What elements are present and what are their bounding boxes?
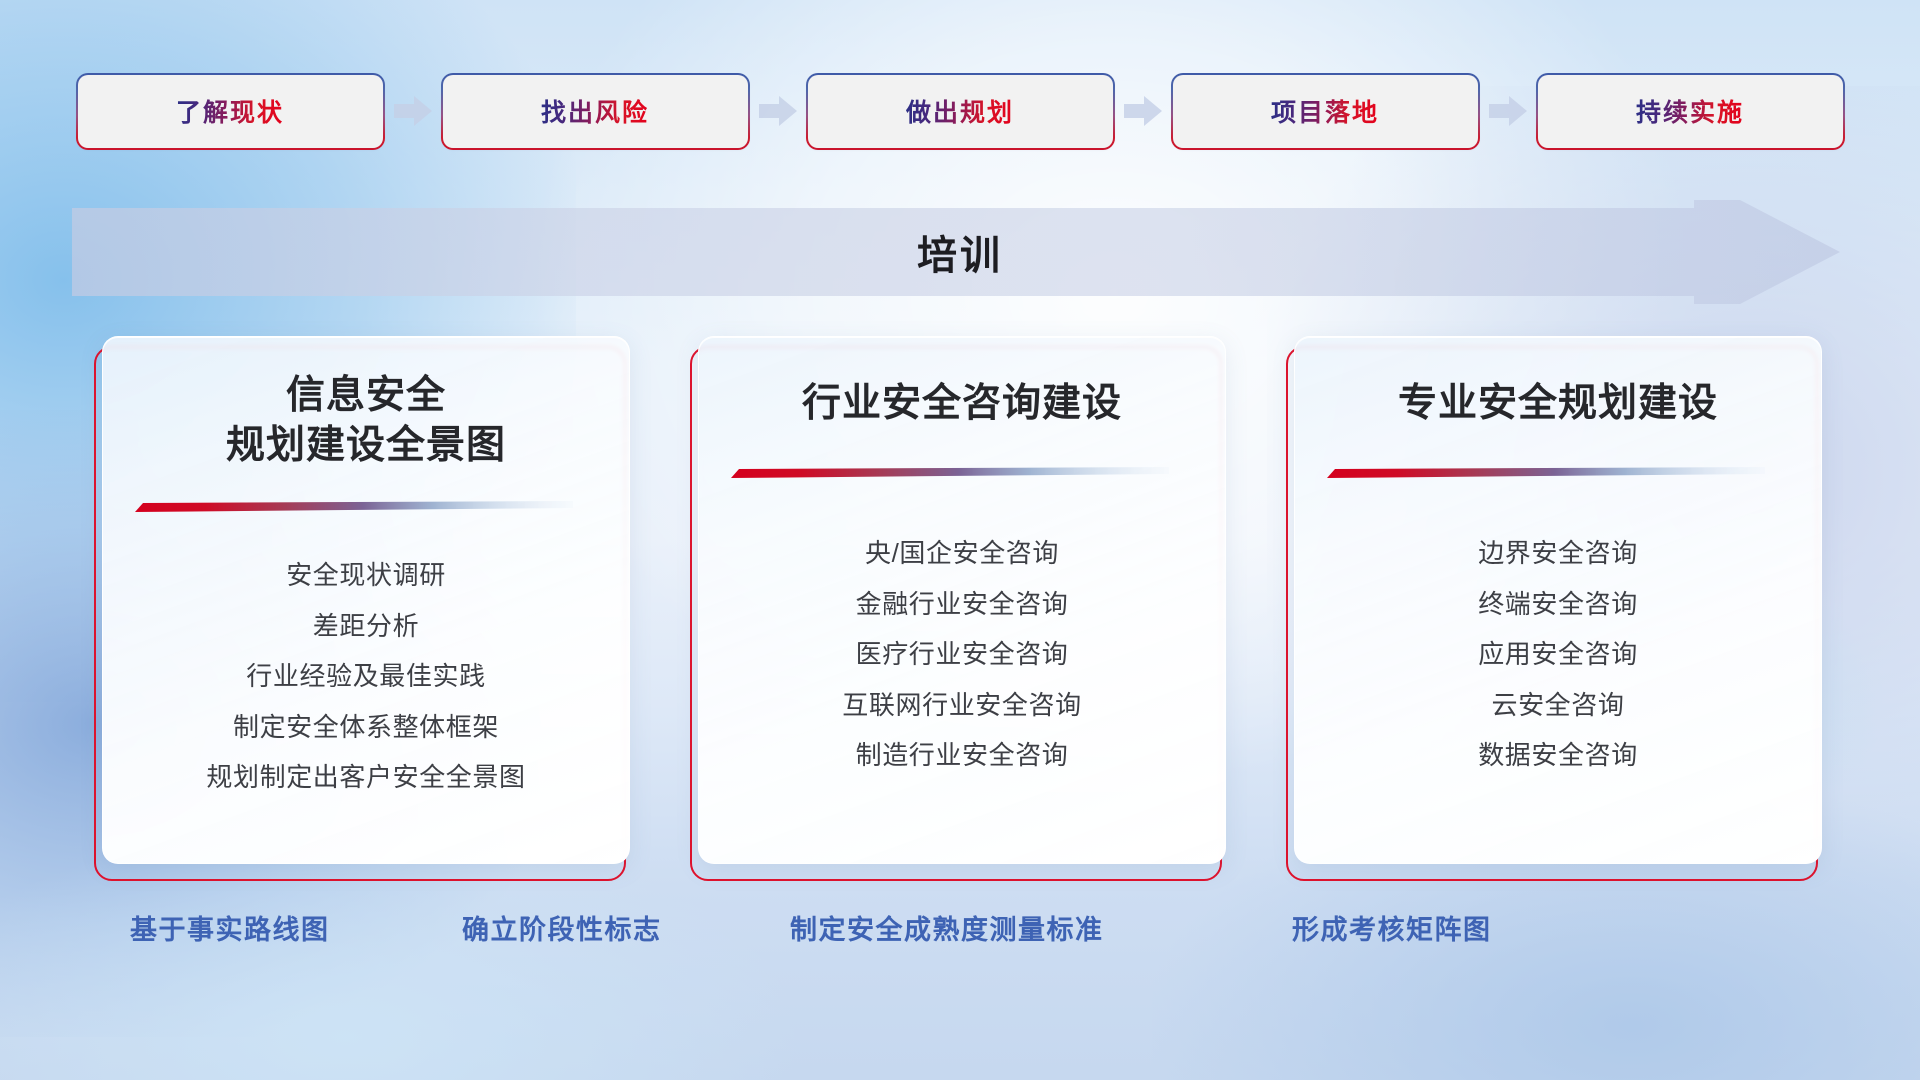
step-separator-2-right-arrow-icon — [748, 75, 808, 148]
step-box-3[interactable]: 做出规划 — [808, 75, 1113, 148]
card-3[interactable]: 专业安全规划建设边界安全咨询终端安全咨询应用安全咨询云安全咨询数据安全咨询 — [1290, 336, 1822, 871]
step-box-5[interactable]: 持续实施 — [1538, 75, 1843, 148]
card-1[interactable]: 信息安全 规划建设全景图安全现状调研差距分析行业经验及最佳实践制定安全体系整体框… — [98, 336, 630, 871]
banner-title: 培训 — [0, 200, 1920, 304]
list-item[interactable]: 制定安全体系整体框架 — [233, 707, 499, 749]
list-item[interactable]: 安全现状调研 — [286, 555, 446, 597]
card-title-1: 信息安全 规划建设全景图 — [226, 371, 506, 471]
step-separator-3-right-arrow-icon — [1113, 75, 1173, 148]
step-label-1: 了解现状 — [176, 93, 284, 129]
step-box-2[interactable]: 找出风险 — [443, 75, 748, 148]
list-item[interactable]: 差距分析 — [313, 606, 419, 648]
footer-label-1: 基于事实路线图 — [130, 908, 330, 947]
step-label-5: 持续实施 — [1636, 93, 1744, 129]
step-label-3: 做出规划 — [906, 93, 1014, 129]
card-row: 信息安全 规划建设全景图安全现状调研差距分析行业经验及最佳实践制定安全体系整体框… — [0, 336, 1920, 876]
list-item[interactable]: 云安全咨询 — [1491, 685, 1624, 727]
footer-label-3: 制定安全成熟度测量标准 — [790, 908, 1104, 947]
list-item[interactable]: 规划制定出客户安全全景图 — [206, 757, 525, 799]
card-title-2: 行业安全咨询建设 — [802, 379, 1122, 429]
footer-label-2: 确立阶段性标志 — [462, 908, 662, 947]
step-box-1[interactable]: 了解现状 — [78, 75, 383, 148]
card-body-2: 行业安全咨询建设央/国企安全咨询金融行业安全咨询医疗行业安全咨询互联网行业安全咨… — [698, 336, 1226, 864]
list-item[interactable]: 数据安全咨询 — [1478, 735, 1638, 777]
list-item[interactable]: 应用安全咨询 — [1478, 634, 1638, 676]
list-item[interactable]: 行业经验及最佳实践 — [246, 656, 485, 698]
card-2[interactable]: 行业安全咨询建设央/国企安全咨询金融行业安全咨询医疗行业安全咨询互联网行业安全咨… — [694, 336, 1226, 871]
card-list-1: 安全现状调研差距分析行业经验及最佳实践制定安全体系整体框架规划制定出客户安全全景… — [103, 555, 629, 799]
step-separator-1-right-arrow-icon — [383, 75, 443, 148]
process-step-row: 了解现状找出风险做出规划项目落地持续实施 — [0, 72, 1920, 150]
list-item[interactable]: 金融行业安全咨询 — [856, 584, 1069, 626]
list-item[interactable]: 边界安全咨询 — [1478, 533, 1638, 575]
card-body-1: 信息安全 规划建设全景图安全现状调研差距分析行业经验及最佳实践制定安全体系整体框… — [102, 336, 630, 864]
step-box-4[interactable]: 项目落地 — [1173, 75, 1478, 148]
card-list-3: 边界安全咨询终端安全咨询应用安全咨询云安全咨询数据安全咨询 — [1295, 533, 1821, 777]
card-list-2: 央/国企安全咨询金融行业安全咨询医疗行业安全咨询互联网行业安全咨询制造行业安全咨… — [699, 533, 1225, 777]
footer-label-row: 基于事实路线图确立阶段性标志制定安全成熟度测量标准形成考核矩阵图 — [0, 908, 1920, 964]
training-banner: 培训 — [0, 200, 1920, 304]
list-item[interactable]: 终端安全咨询 — [1478, 584, 1638, 626]
footer-label-4: 形成考核矩阵图 — [1292, 908, 1492, 947]
card-body-3: 专业安全规划建设边界安全咨询终端安全咨询应用安全咨询云安全咨询数据安全咨询 — [1294, 336, 1822, 864]
step-label-2: 找出风险 — [541, 93, 649, 129]
list-item[interactable]: 互联网行业安全咨询 — [842, 685, 1081, 727]
card-title-3: 专业安全规划建设 — [1398, 379, 1718, 429]
list-item[interactable]: 医疗行业安全咨询 — [856, 634, 1069, 676]
card-divider-2 — [729, 467, 1169, 481]
card-divider-3 — [1325, 467, 1765, 481]
list-item[interactable]: 央/国企安全咨询 — [865, 533, 1059, 575]
card-divider-1 — [133, 501, 573, 515]
step-separator-4-right-arrow-icon — [1478, 75, 1538, 148]
step-label-4: 项目落地 — [1271, 93, 1379, 129]
list-item[interactable]: 制造行业安全咨询 — [856, 735, 1069, 777]
